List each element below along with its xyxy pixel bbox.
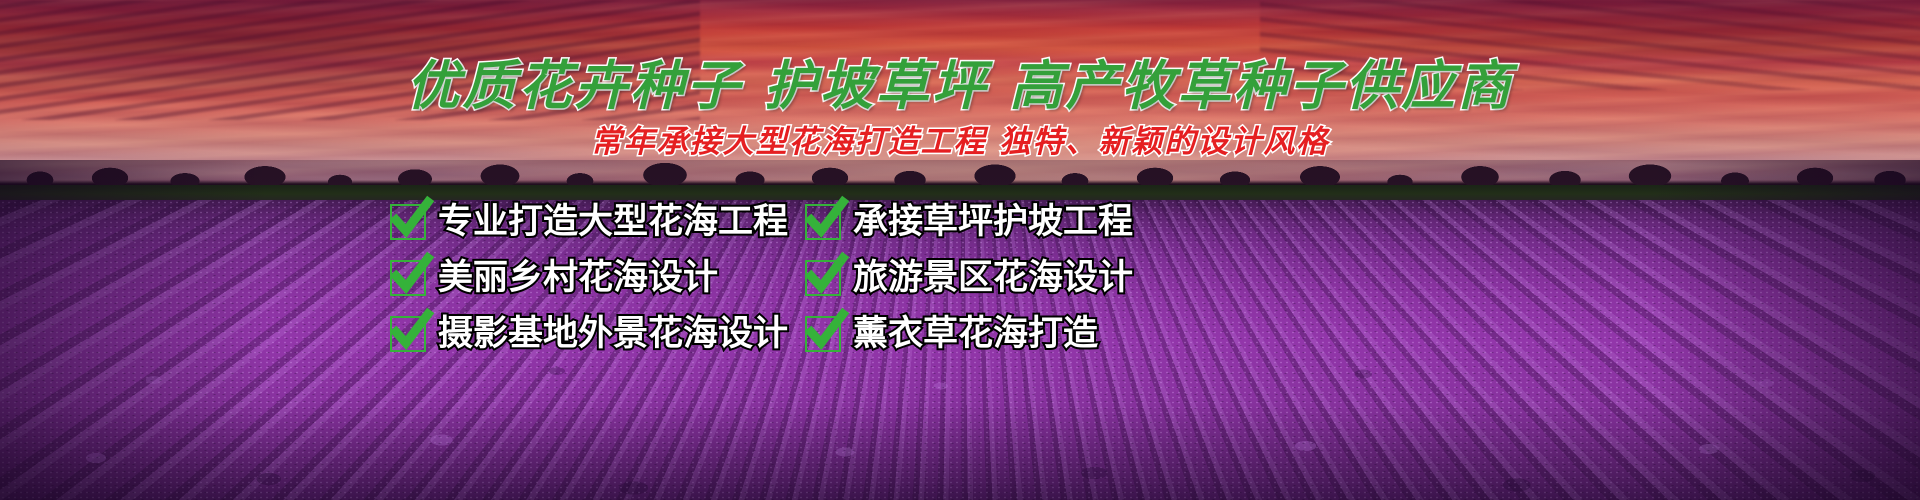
check-mark-icon: [390, 316, 426, 352]
checklist-item-4: 旅游景区花海设计: [805, 252, 1170, 304]
checklist-item-1: 专业打造大型花海工程: [390, 196, 805, 248]
checklist-item-5: 摄影基地外景花海设计: [390, 308, 805, 360]
banner-content: 优质花卉种子 护坡草坪 高产牧草种子供应商 常年承接大型花海打造工程 独特、新颖…: [0, 0, 1920, 500]
check-mark-icon: [805, 260, 841, 296]
check-mark-icon: [805, 316, 841, 352]
checklist-item-4-label: 旅游景区花海设计: [853, 261, 1133, 296]
check-mark-icon: [390, 204, 426, 240]
checklist-item-2: 承接草坪护坡工程: [805, 196, 1170, 248]
checklist-item-3-label: 美丽乡村花海设计: [438, 261, 718, 296]
checklist-item-3: 美丽乡村花海设计: [390, 252, 805, 304]
feature-checklist: 专业打造大型花海工程 承接草坪护坡工程 美丽乡村花海设计: [390, 196, 1170, 360]
checklist-item-6-label: 薰衣草花海打造: [853, 317, 1098, 352]
checklist-item-1-label: 专业打造大型花海工程: [438, 205, 788, 240]
banner-subheadline: 常年承接大型花海打造工程 独特、新颖的设计风格: [0, 116, 1920, 161]
check-mark-icon: [805, 204, 841, 240]
banner-headline: 优质花卉种子 护坡草坪 高产牧草种子供应商: [0, 44, 1920, 120]
check-mark-icon: [390, 260, 426, 296]
checklist-item-5-label: 摄影基地外景花海设计: [438, 317, 788, 352]
checklist-item-2-label: 承接草坪护坡工程: [853, 205, 1133, 240]
checklist-item-6: 薰衣草花海打造: [805, 308, 1170, 360]
promo-banner: 优质花卉种子 护坡草坪 高产牧草种子供应商 常年承接大型花海打造工程 独特、新颖…: [0, 0, 1920, 500]
